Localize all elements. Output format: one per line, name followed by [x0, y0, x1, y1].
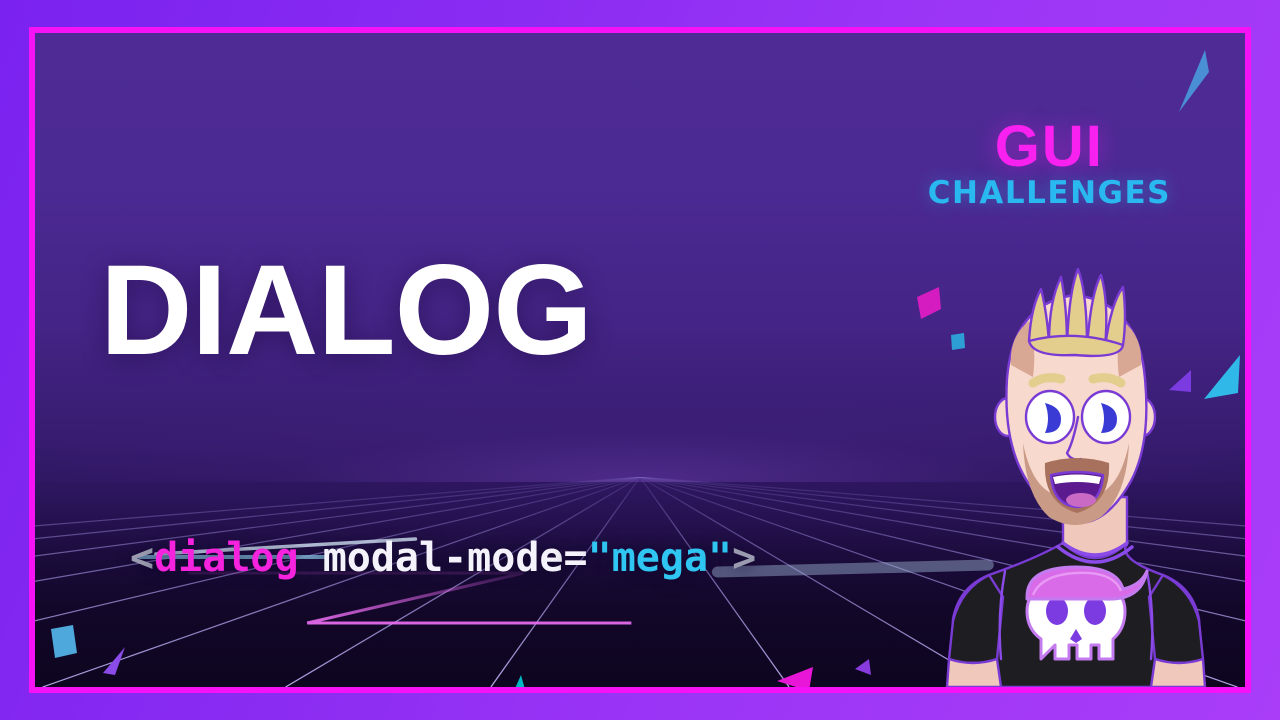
purple-triangle-bottom-left	[99, 643, 131, 681]
gui-challenges-logo: GUI CHALLENGES	[928, 119, 1171, 209]
code-attr-name: modal-mode	[323, 535, 564, 581]
magenta-triangle-bottom	[773, 665, 817, 687]
code-line-1: <dialog modal-mode="mega">	[130, 531, 756, 586]
code-space	[299, 535, 323, 581]
video-thumbnail: DIALOG <dialog modal-mode="mega"> <dialo…	[0, 0, 1280, 720]
code-close-bracket: >	[732, 535, 756, 581]
code-quote-close: "	[708, 535, 732, 581]
developer-avatar	[945, 267, 1245, 687]
code-quote-open: "	[588, 535, 612, 581]
logo-challenges-text: CHALLENGES	[928, 178, 1171, 209]
code-open-bracket: <	[130, 535, 154, 581]
code-snippet: <dialog modal-mode="mega"> <dialog modal…	[130, 421, 756, 687]
blue-square-bottom-left	[45, 623, 81, 663]
purple-sliver-bottom	[853, 657, 873, 683]
logo-gui-text: GUI	[928, 119, 1171, 174]
teal-triangle-bottom	[501, 673, 537, 687]
page-title: DIALOG	[100, 247, 592, 375]
magenta-shard-upper	[911, 283, 947, 325]
code-attr-value: mega	[612, 535, 708, 581]
avatar-illustration	[945, 267, 1245, 687]
code-equals: =	[564, 535, 588, 581]
blue-shard-top-right	[1175, 46, 1211, 118]
scene: DIALOG <dialog modal-mode="mega"> <dialo…	[35, 33, 1245, 687]
code-tag-name: dialog	[154, 535, 299, 581]
